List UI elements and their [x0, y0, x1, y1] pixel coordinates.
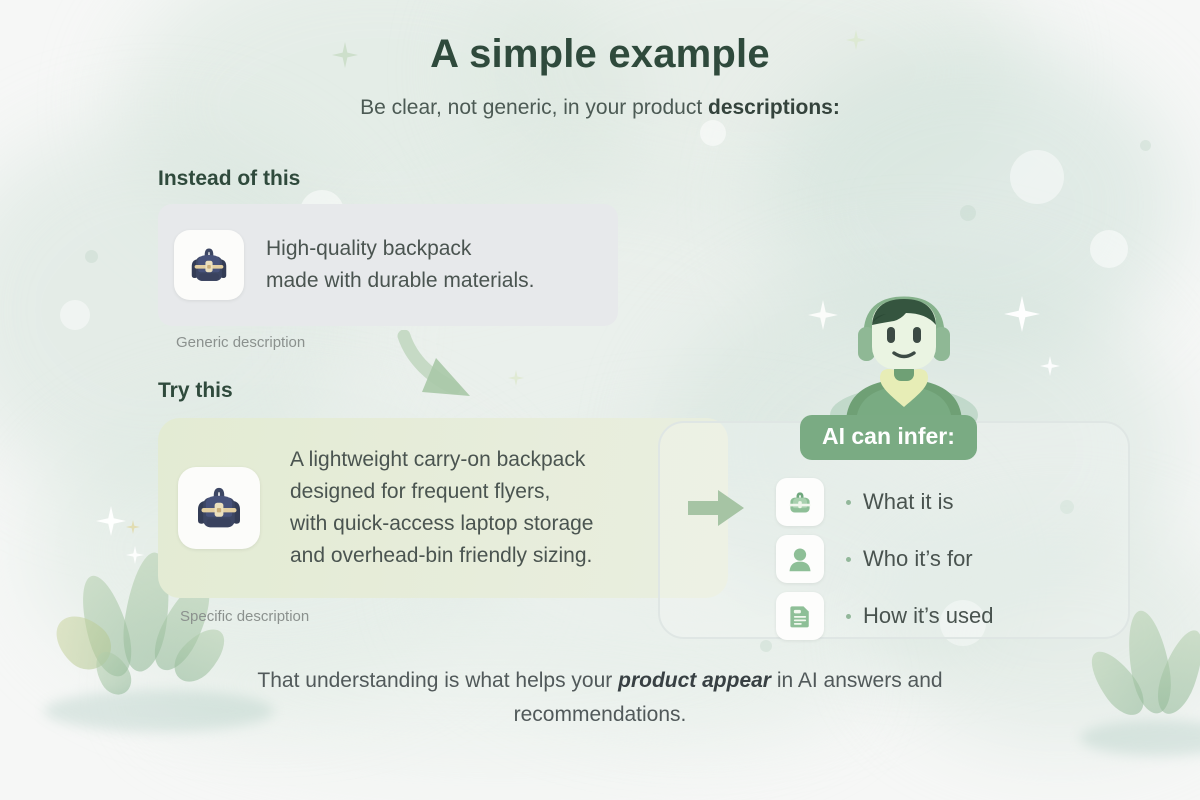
infer-item-label: How it’s used	[863, 603, 993, 629]
section-label-bad: Instead of this	[158, 167, 300, 191]
sparkle-icon	[126, 520, 140, 534]
ai-infer-list: What it is Who it’s for	[776, 477, 1106, 641]
subtitle-prefix: Be clear, not generic, in your product	[360, 96, 708, 119]
generic-line: High-quality backpack	[266, 233, 534, 265]
page-subtitle: Be clear, not generic, in your product d…	[0, 96, 1200, 120]
backpack-icon	[186, 242, 232, 288]
generic-card-caption: Generic description	[176, 334, 305, 351]
curved-arrow-icon	[392, 330, 522, 406]
generic-description-text: High-quality backpack made with durable …	[266, 233, 534, 297]
person-icon	[786, 545, 814, 573]
list-item[interactable]: Who it’s for	[776, 534, 1106, 584]
backpack-icon	[191, 480, 247, 536]
list-item[interactable]: What it is	[776, 477, 1106, 527]
backpack-icon-tile	[178, 467, 260, 549]
specific-description-text: A lightweight carry-on backpack designed…	[290, 444, 594, 572]
footer-emphasis: product appear	[618, 669, 771, 692]
ai-mascot-icon	[820, 283, 988, 421]
sparkle-icon	[126, 546, 144, 564]
specific-line: and overhead-bin friendly sizing.	[290, 540, 594, 572]
sparkle-icon	[1004, 296, 1040, 332]
specific-line: designed for frequent flyers,	[290, 476, 594, 508]
backpack-icon-tile	[174, 230, 244, 300]
specific-line: with quick-access laptop storage	[290, 508, 594, 540]
sparkle-icon	[96, 506, 126, 536]
generic-description-card: High-quality backpack made with durable …	[158, 204, 618, 326]
generic-line: made with durable materials.	[266, 265, 534, 297]
footer-text: That understanding is what helps your pr…	[200, 664, 1000, 732]
person-icon-tile	[776, 535, 824, 583]
bag-icon	[786, 488, 814, 516]
specific-card-caption: Specific description	[180, 608, 309, 625]
ai-can-infer-badge: AI can infer:	[800, 415, 977, 460]
list-item[interactable]: How it’s used	[776, 591, 1106, 641]
page-title: A simple example	[0, 32, 1200, 77]
bullet-dot	[846, 614, 851, 619]
specific-line: A lightweight carry-on backpack	[290, 444, 594, 476]
bullet-dot	[846, 500, 851, 505]
infer-item-label: What it is	[863, 489, 953, 515]
footer-prefix: That understanding is what helps your	[257, 669, 618, 692]
specific-description-card: A lightweight carry-on backpack designed…	[158, 418, 728, 598]
document-icon-tile	[776, 592, 824, 640]
bullet-dot	[846, 557, 851, 562]
section-label-good: Try this	[158, 379, 233, 403]
document-icon	[786, 602, 814, 630]
sparkle-icon	[1040, 356, 1060, 376]
subtitle-emphasis: descriptions:	[708, 96, 840, 119]
infer-item-label: Who it’s for	[863, 546, 973, 572]
infographic-canvas: A simple example Be clear, not generic, …	[0, 0, 1200, 800]
bag-icon-tile	[776, 478, 824, 526]
